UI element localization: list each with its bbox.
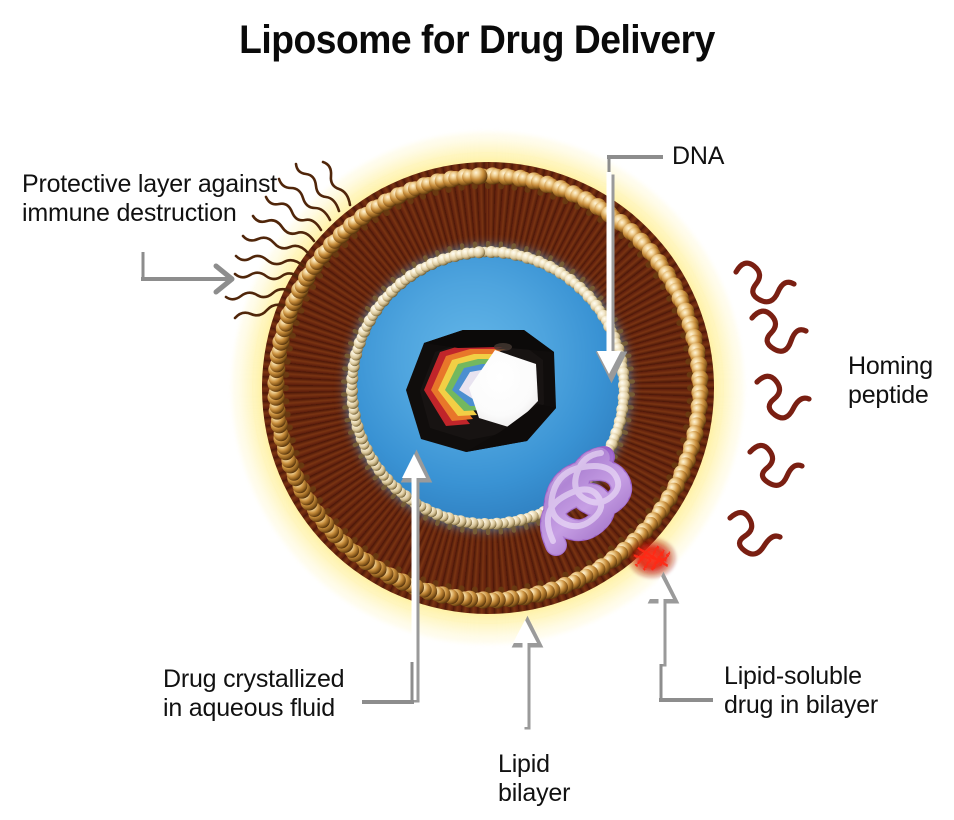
drug-crystal-icon <box>406 330 556 452</box>
dna-leader <box>607 157 663 172</box>
liposome-diagram: Protective layer against immune destruct… <box>0 0 954 820</box>
lipid-soluble-drug-leader <box>659 664 713 702</box>
dna-strand-icon <box>548 453 621 545</box>
lipid-bilayer-arrow <box>513 620 539 730</box>
label-homing-peptide: Homing peptide <box>848 352 933 409</box>
protective-layer-leader <box>141 252 232 292</box>
label-lipid-bilayer: Lipid bilayer <box>498 750 570 807</box>
label-dna: DNA <box>672 142 724 171</box>
homing-peptide-icon <box>730 263 809 554</box>
lipid-soluble-drug-arrow <box>649 576 675 667</box>
label-lipid-soluble-drug: Lipid-soluble drug in bilayer <box>724 662 878 719</box>
label-drug-crystallized: Drug crystallized in aqueous fluid <box>163 665 344 722</box>
label-protective-layer: Protective layer against immune destruct… <box>22 170 277 227</box>
drug-crystal-leader <box>362 662 414 702</box>
lipid-soluble-drug-icon <box>626 536 678 580</box>
